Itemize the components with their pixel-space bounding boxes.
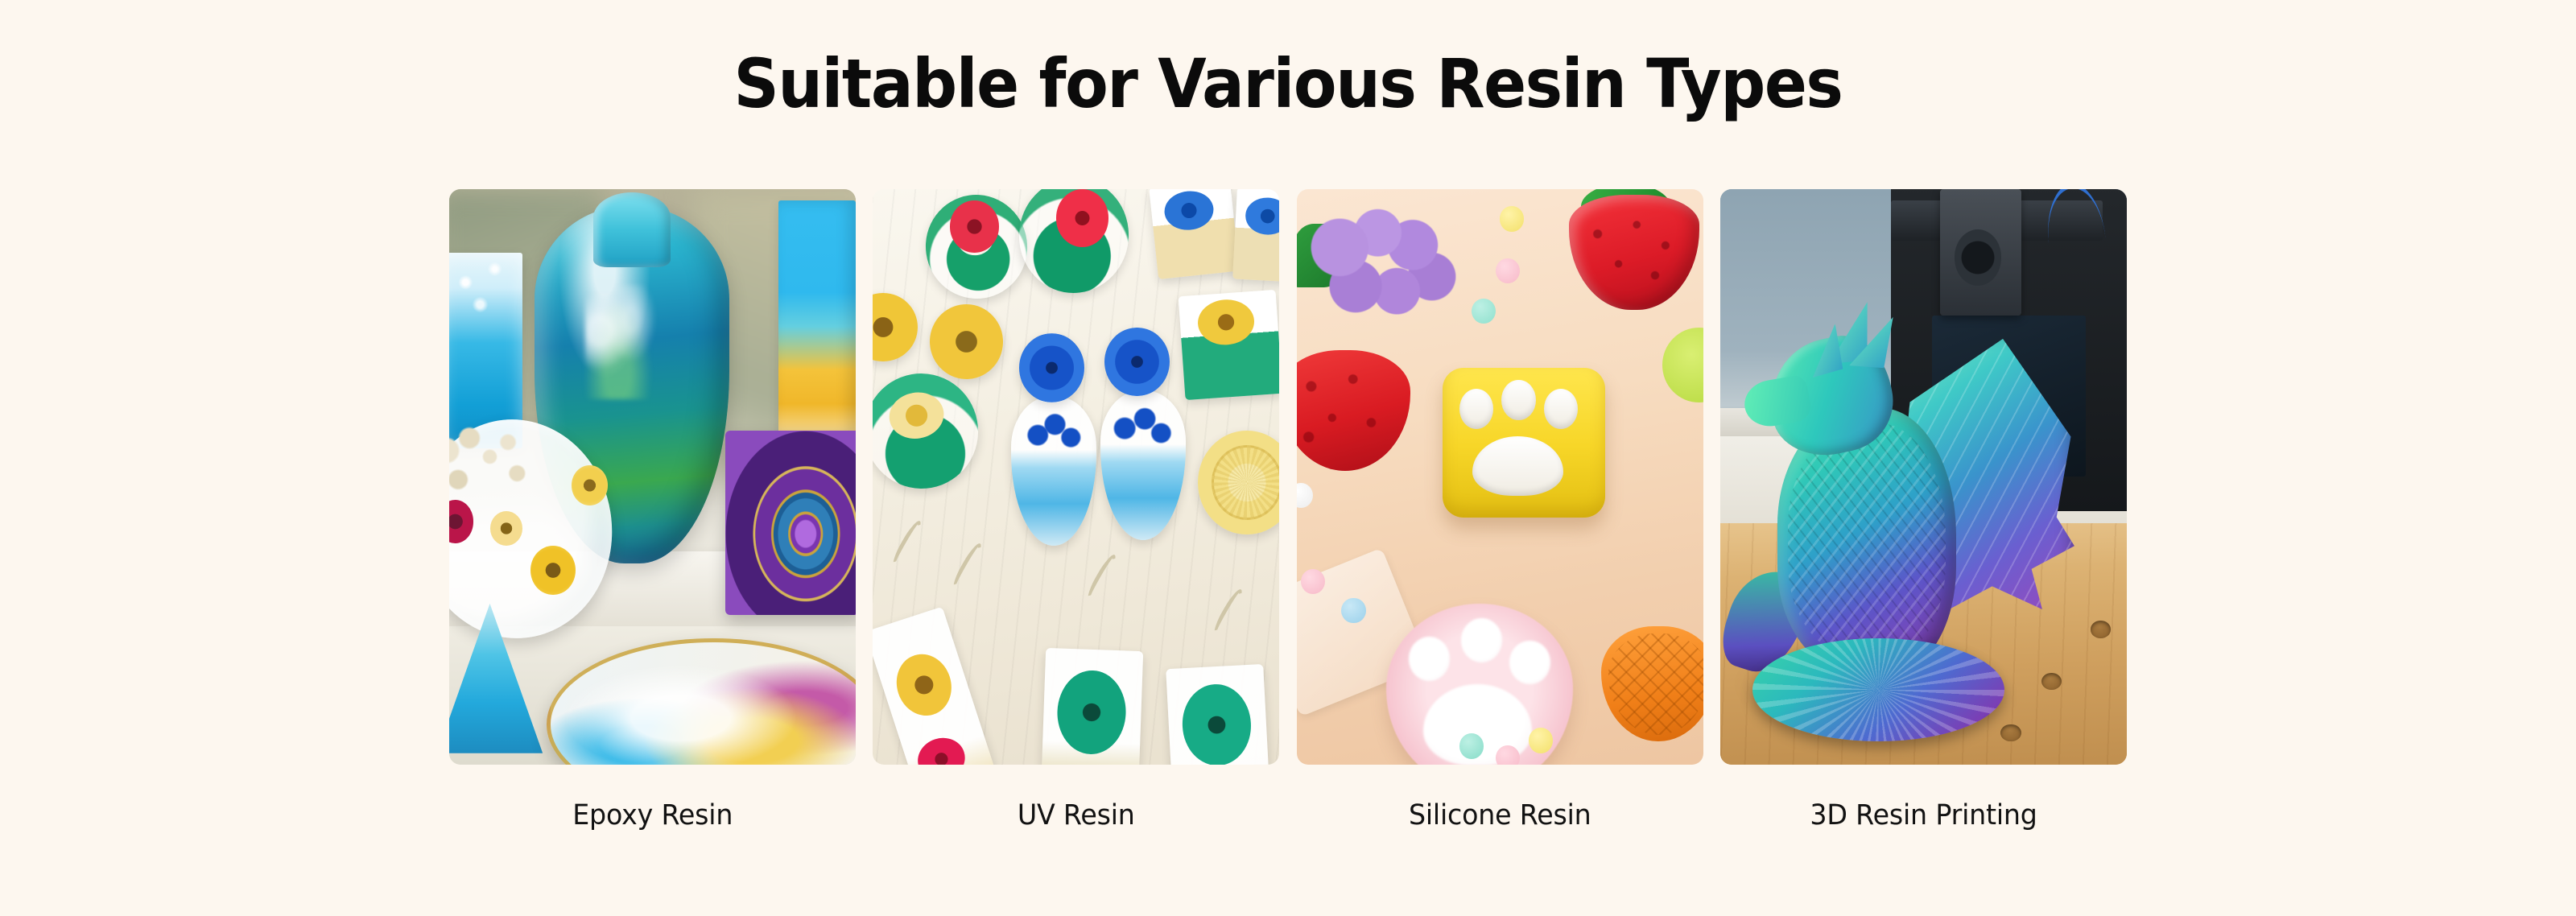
pink-flower-accent	[912, 732, 970, 765]
fluffy-paw-toe-2	[1461, 618, 1502, 662]
resin-card-caption: UV Resin	[1018, 799, 1135, 831]
orange-pineapple-mold	[1601, 626, 1703, 741]
paw-toe-3	[1544, 389, 1578, 429]
pastel-bead-2	[1496, 258, 1520, 283]
paw-main-pad	[1472, 436, 1563, 496]
purple-grape-mold	[1305, 206, 1463, 327]
blue-gold-ombre-block	[778, 200, 856, 442]
fluffy-paw-toe-1	[1409, 637, 1450, 681]
resin-card-caption: 3D Resin Printing	[1810, 799, 2037, 831]
paw-toe-1	[1459, 389, 1493, 429]
resin-card-caption: Silicone Resin	[1409, 799, 1591, 831]
teal-flower-rectangle-2	[1166, 664, 1271, 765]
epoxy-resin-image[interactable]	[449, 189, 856, 765]
red-pressed-flower-1	[950, 200, 999, 252]
yellow-cat-paw-mold	[1443, 368, 1605, 518]
desk-hole-2	[2091, 621, 2111, 637]
vase-neck	[593, 192, 671, 267]
blue-flower-square-2	[1232, 189, 1279, 283]
red-pressed-flower-2	[1056, 189, 1109, 247]
silicone-resin-image[interactable]	[1297, 189, 1703, 765]
resin-card-caption: Epoxy Resin	[572, 799, 733, 831]
purple-agate-slab	[725, 431, 856, 615]
sunflower-green-square	[1179, 290, 1280, 400]
page-title: Suitable for Various Resin Types	[90, 47, 2486, 121]
green-round-mold	[1662, 328, 1703, 402]
blue-flower-square-1	[1149, 189, 1239, 279]
pastel-bead-4	[1297, 483, 1313, 508]
resin-type-card-row: Epoxy Resin	[449, 189, 2127, 825]
pastel-bead-3	[1472, 299, 1496, 324]
pastel-bead-7	[1459, 733, 1484, 758]
teal-flower-rectangle-1	[1041, 648, 1144, 765]
3d-resin-printing-image[interactable]	[1720, 189, 2127, 765]
resin-card-uv-resin[interactable]: UV Resin	[873, 189, 1279, 831]
pastel-bead-6	[1341, 598, 1365, 623]
red-strawberry-mold-top	[1569, 195, 1699, 310]
resin-card-silicone-resin[interactable]: Silicone Resin	[1297, 189, 1703, 831]
pastel-bead-1	[1500, 206, 1524, 231]
dragon-base	[1752, 638, 2004, 742]
resin-types-section: Suitable for Various Resin Types	[0, 0, 2576, 916]
red-strawberry-mold-left	[1297, 350, 1410, 471]
blue-cornflower-stud-right	[1104, 328, 1170, 397]
desk-hole-1	[2041, 673, 2062, 690]
blue-cornflower-stud-left	[1019, 333, 1084, 402]
yellow-flower-2	[530, 546, 576, 595]
pastel-bead-9	[1529, 728, 1553, 753]
pastel-bead-5	[1301, 569, 1325, 594]
uv-resin-image[interactable]	[873, 189, 1279, 765]
vase-swirl-highlight	[585, 285, 659, 399]
yellow-flower-3	[490, 511, 522, 546]
paw-toe-2	[1501, 380, 1535, 420]
resin-card-epoxy-resin[interactable]: Epoxy Resin	[449, 189, 856, 831]
fluffy-paw-toe-3	[1509, 641, 1550, 685]
yellow-flower-1	[572, 465, 608, 505]
resin-card-3d-resin-printing[interactable]: 3D Resin Printing	[1720, 189, 2127, 831]
printer-print-head	[1940, 189, 2021, 316]
